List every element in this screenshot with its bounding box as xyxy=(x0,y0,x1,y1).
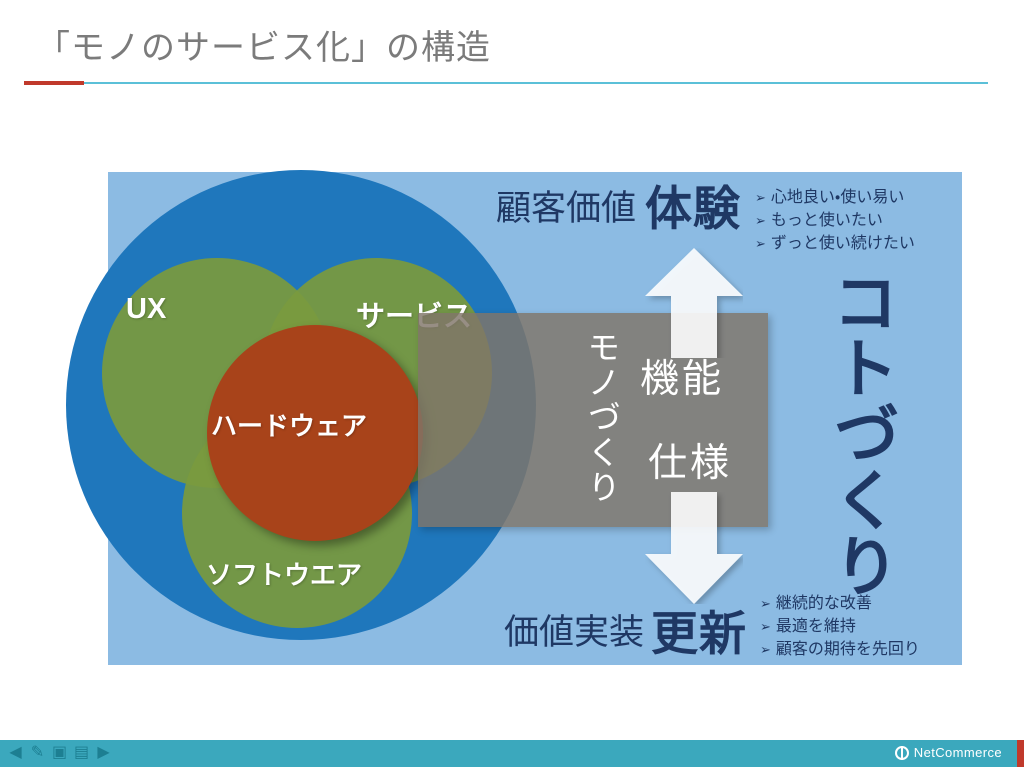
title-underline-cyan xyxy=(36,82,988,84)
brand-name: NetCommerce xyxy=(914,745,1002,760)
venn-label-ux: UX xyxy=(126,293,166,326)
experience-headline: 体験 xyxy=(645,170,741,239)
arrow-bullet-icon: ➢ xyxy=(755,189,766,208)
arrow-bullet-icon: ➢ xyxy=(760,618,771,637)
monozukuri-label-spec: 仕様 xyxy=(648,432,732,488)
update-bullet-list: ➢ 継続的な改善 ➢ 最適を維持 ➢ 顧客の期待を先回り xyxy=(760,592,920,662)
list-item-label: 継続的な改善 xyxy=(776,592,872,615)
list-item: ➢ 継続的な改善 xyxy=(760,592,920,615)
list-item-label: もっと使いたい xyxy=(771,209,883,232)
up-arrow-icon xyxy=(645,248,743,358)
update-headline: 更新 xyxy=(651,595,747,664)
list-item: ➢ 顧客の期待を先回り xyxy=(760,638,920,661)
slide-canvas: 「モノのサービス化」の構造 UX サービス ハードウェア ソフトウエア モノづく… xyxy=(0,0,1024,767)
list-item: ➢ 最適を維持 xyxy=(760,615,920,638)
footer-accent-bar xyxy=(1017,740,1024,767)
arrow-bullet-icon: ➢ xyxy=(760,641,771,660)
arrow-bullet-icon: ➢ xyxy=(760,595,771,614)
arrow-bullet-icon: ➢ xyxy=(755,212,766,231)
next-arrow-icon[interactable]: ▶ xyxy=(94,743,113,762)
arrow-bullet-icon: ➢ xyxy=(755,235,766,254)
menu-icon[interactable]: ▤ xyxy=(72,743,91,762)
value-implementation-caption: 価値実装 xyxy=(504,604,644,655)
list-item: ➢ ずっと使い続けたい xyxy=(755,232,915,255)
venn-label-software: ソフトウエア xyxy=(206,555,362,592)
experience-bullet-list: ➢ 心地良い・使い易い ➢ もっと使いたい ➢ ずっと使い続けたい xyxy=(755,186,915,256)
screen-icon[interactable]: ▣ xyxy=(50,743,69,762)
prev-arrow-icon[interactable]: ◀ xyxy=(6,743,25,762)
pen-icon[interactable]: ✎ xyxy=(28,743,47,762)
title-underline-red xyxy=(24,81,84,85)
list-item-label: 最適を維持 xyxy=(776,615,856,638)
kotozukuri-vertical-headline: コトづくり xyxy=(818,268,894,598)
list-item: ➢ 心地良い・使い易い xyxy=(755,186,915,209)
brand-logo: NetCommerce xyxy=(895,745,1002,760)
page-title: 「モノのサービス化」の構造 xyxy=(36,20,491,69)
monozukuri-vertical-label: モノづくり xyxy=(572,330,618,505)
down-arrow-icon xyxy=(645,492,743,604)
list-item: ➢ もっと使いたい xyxy=(755,209,915,232)
list-item-label: 心地良い・使い易い xyxy=(771,186,904,209)
slide-footer: ◀ ✎ ▣ ▤ ▶ NetCommerce xyxy=(0,740,1024,767)
list-item-label: 顧客の期待を先回り xyxy=(776,638,920,661)
list-item-label: ずっと使い続けたい xyxy=(771,232,915,255)
venn-label-hardware: ハードウェア xyxy=(211,406,367,443)
footer-nav-group: ◀ ✎ ▣ ▤ ▶ xyxy=(6,743,113,762)
customer-value-caption: 顧客価値 xyxy=(496,180,636,231)
netcommerce-mark-icon xyxy=(895,746,909,760)
